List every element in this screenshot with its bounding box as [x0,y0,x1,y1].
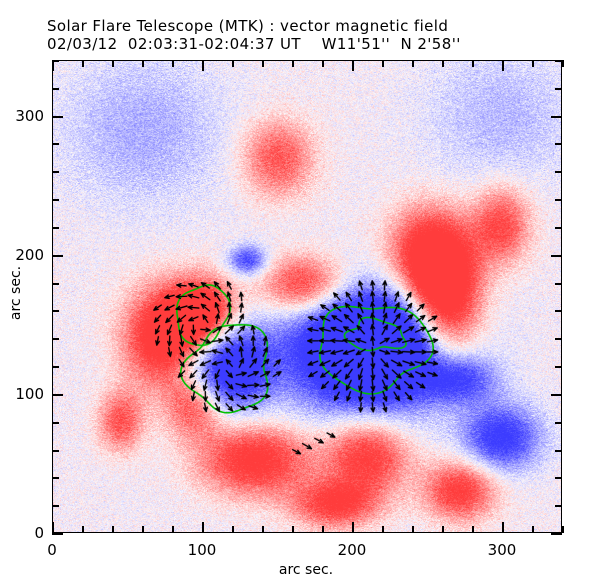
y-tick-left [52,477,59,479]
x-tick-label: 0 [47,541,57,559]
x-tick-bottom [262,526,264,533]
plot-frame [52,60,562,533]
y-tick-right [555,310,562,312]
y-tick-right [551,116,562,118]
x-tick-top [142,60,144,67]
x-tick-top [112,60,114,67]
y-tick-left [52,310,59,312]
y-tick-left [52,255,63,257]
x-tick-bottom [82,526,84,533]
y-tick-right [555,283,562,285]
y-tick-left [52,60,59,62]
x-tick-bottom [112,526,114,533]
x-tick-bottom [352,522,354,533]
y-tick-left [52,283,59,285]
y-tick-left [52,450,59,452]
y-tick-right [555,422,562,424]
x-tick-bottom [532,526,534,533]
x-tick-bottom [442,526,444,533]
y-tick-left [52,199,59,201]
y-tick-right [555,60,562,62]
x-tick-top [82,60,84,67]
y-tick-label: 300 [4,107,44,125]
magnetogram-image [53,61,561,532]
y-tick-label: 100 [4,385,44,403]
x-tick-bottom [52,522,54,533]
x-tick-top [382,60,384,67]
y-tick-right [555,450,562,452]
x-tick-bottom [142,526,144,533]
y-tick-right [555,505,562,507]
x-tick-label: 100 [188,541,217,559]
x-tick-top [52,60,54,71]
y-tick-left [52,227,59,229]
x-tick-label: 300 [488,541,517,559]
x-tick-top [322,60,324,67]
y-tick-left [52,143,59,145]
x-tick-top [442,60,444,67]
y-tick-right [551,255,562,257]
x-tick-top [232,60,234,67]
x-tick-top [472,60,474,67]
x-axis-title: arc sec. [0,562,612,578]
y-tick-right [555,199,562,201]
x-tick-top [172,60,174,67]
x-tick-label: 200 [338,541,367,559]
x-tick-bottom [382,526,384,533]
y-tick-left [52,366,59,368]
y-tick-left [52,533,63,535]
x-tick-bottom [292,526,294,533]
x-tick-top [262,60,264,67]
figure-subtitle: 02/03/12 02:03:31-02:04:37 UT W11'51'' N… [47,35,461,53]
y-tick-right [555,338,562,340]
x-tick-top [202,60,204,71]
x-tick-top [352,60,354,71]
x-tick-top [292,60,294,67]
x-tick-bottom [472,526,474,533]
x-tick-top [532,60,534,67]
x-tick-bottom [232,526,234,533]
y-tick-right [555,227,562,229]
x-tick-bottom [322,526,324,533]
y-tick-right [555,88,562,90]
y-tick-left [52,338,59,340]
x-tick-bottom [562,526,564,533]
y-tick-right [555,477,562,479]
y-tick-left [52,422,59,424]
y-tick-right [555,366,562,368]
y-tick-left [52,88,59,90]
y-tick-left [52,505,59,507]
y-tick-right [551,394,562,396]
figure-title: Solar Flare Telescope (MTK) : vector mag… [47,17,448,35]
y-tick-left [52,116,63,118]
x-tick-bottom [172,526,174,533]
x-tick-bottom [412,526,414,533]
y-axis-title: arc sec. [8,253,24,333]
x-tick-top [412,60,414,67]
y-tick-left [52,171,59,173]
y-tick-left [52,394,63,396]
y-tick-right [555,171,562,173]
x-tick-top [562,60,564,67]
y-tick-right [555,143,562,145]
magnetogram-figure: Solar Flare Telescope (MTK) : vector mag… [0,0,612,585]
y-tick-label: 0 [4,524,44,542]
y-tick-right [551,533,562,535]
x-tick-top [502,60,504,71]
x-tick-bottom [202,522,204,533]
x-tick-bottom [502,522,504,533]
